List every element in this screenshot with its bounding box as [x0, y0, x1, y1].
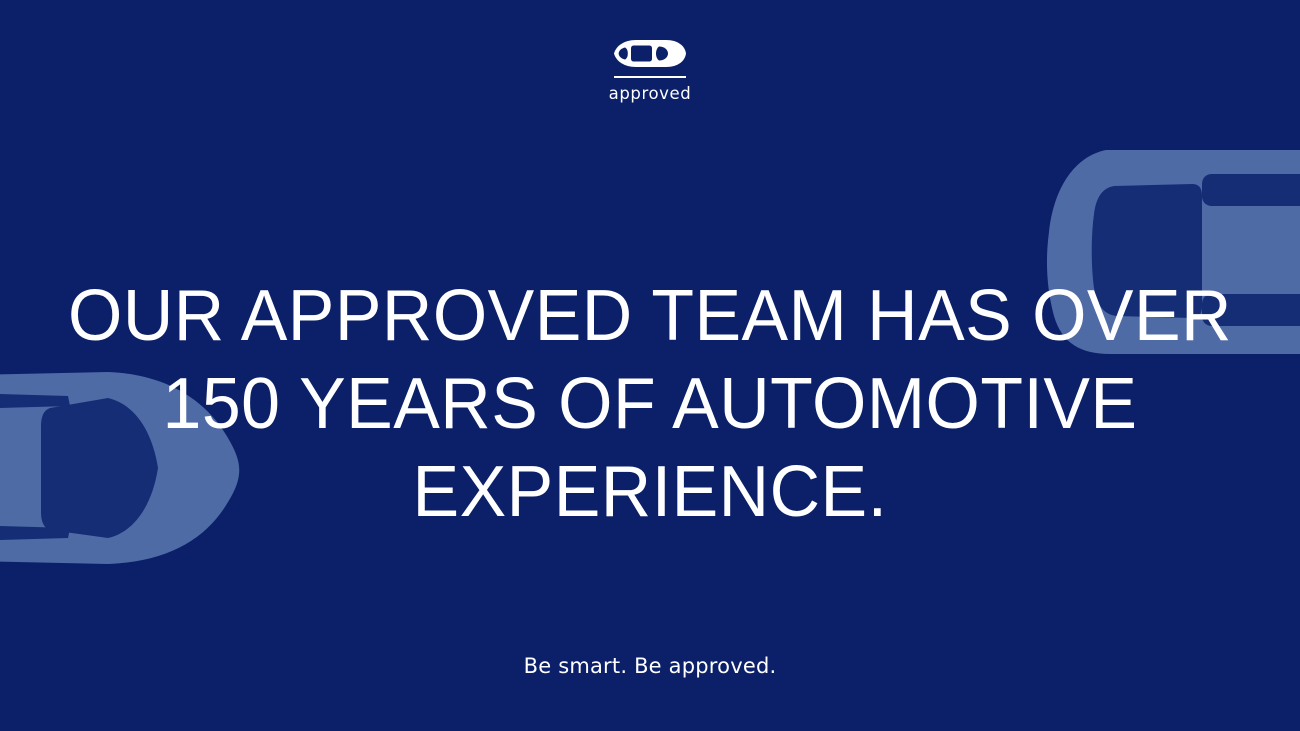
headline: OUR APPROVED TEAM HAS OVER 150 YEARS OF …: [20, 272, 1281, 536]
tagline: Be smart. Be approved.: [0, 654, 1300, 678]
brand-logo: approved: [0, 38, 1300, 102]
headline-line-1: OUR APPROVED TEAM HAS OVER: [20, 272, 1281, 360]
headline-line-2: 150 YEARS OF AUTOMOTIVE: [20, 360, 1281, 448]
slide-canvas: approved OUR APPROVED TEAM HAS OVER 150 …: [0, 0, 1300, 731]
logo-divider: [614, 76, 686, 78]
headline-line-3: EXPERIENCE.: [20, 448, 1281, 536]
approved-car-logo-icon: [612, 38, 688, 69]
logo-wordmark: approved: [609, 86, 692, 103]
